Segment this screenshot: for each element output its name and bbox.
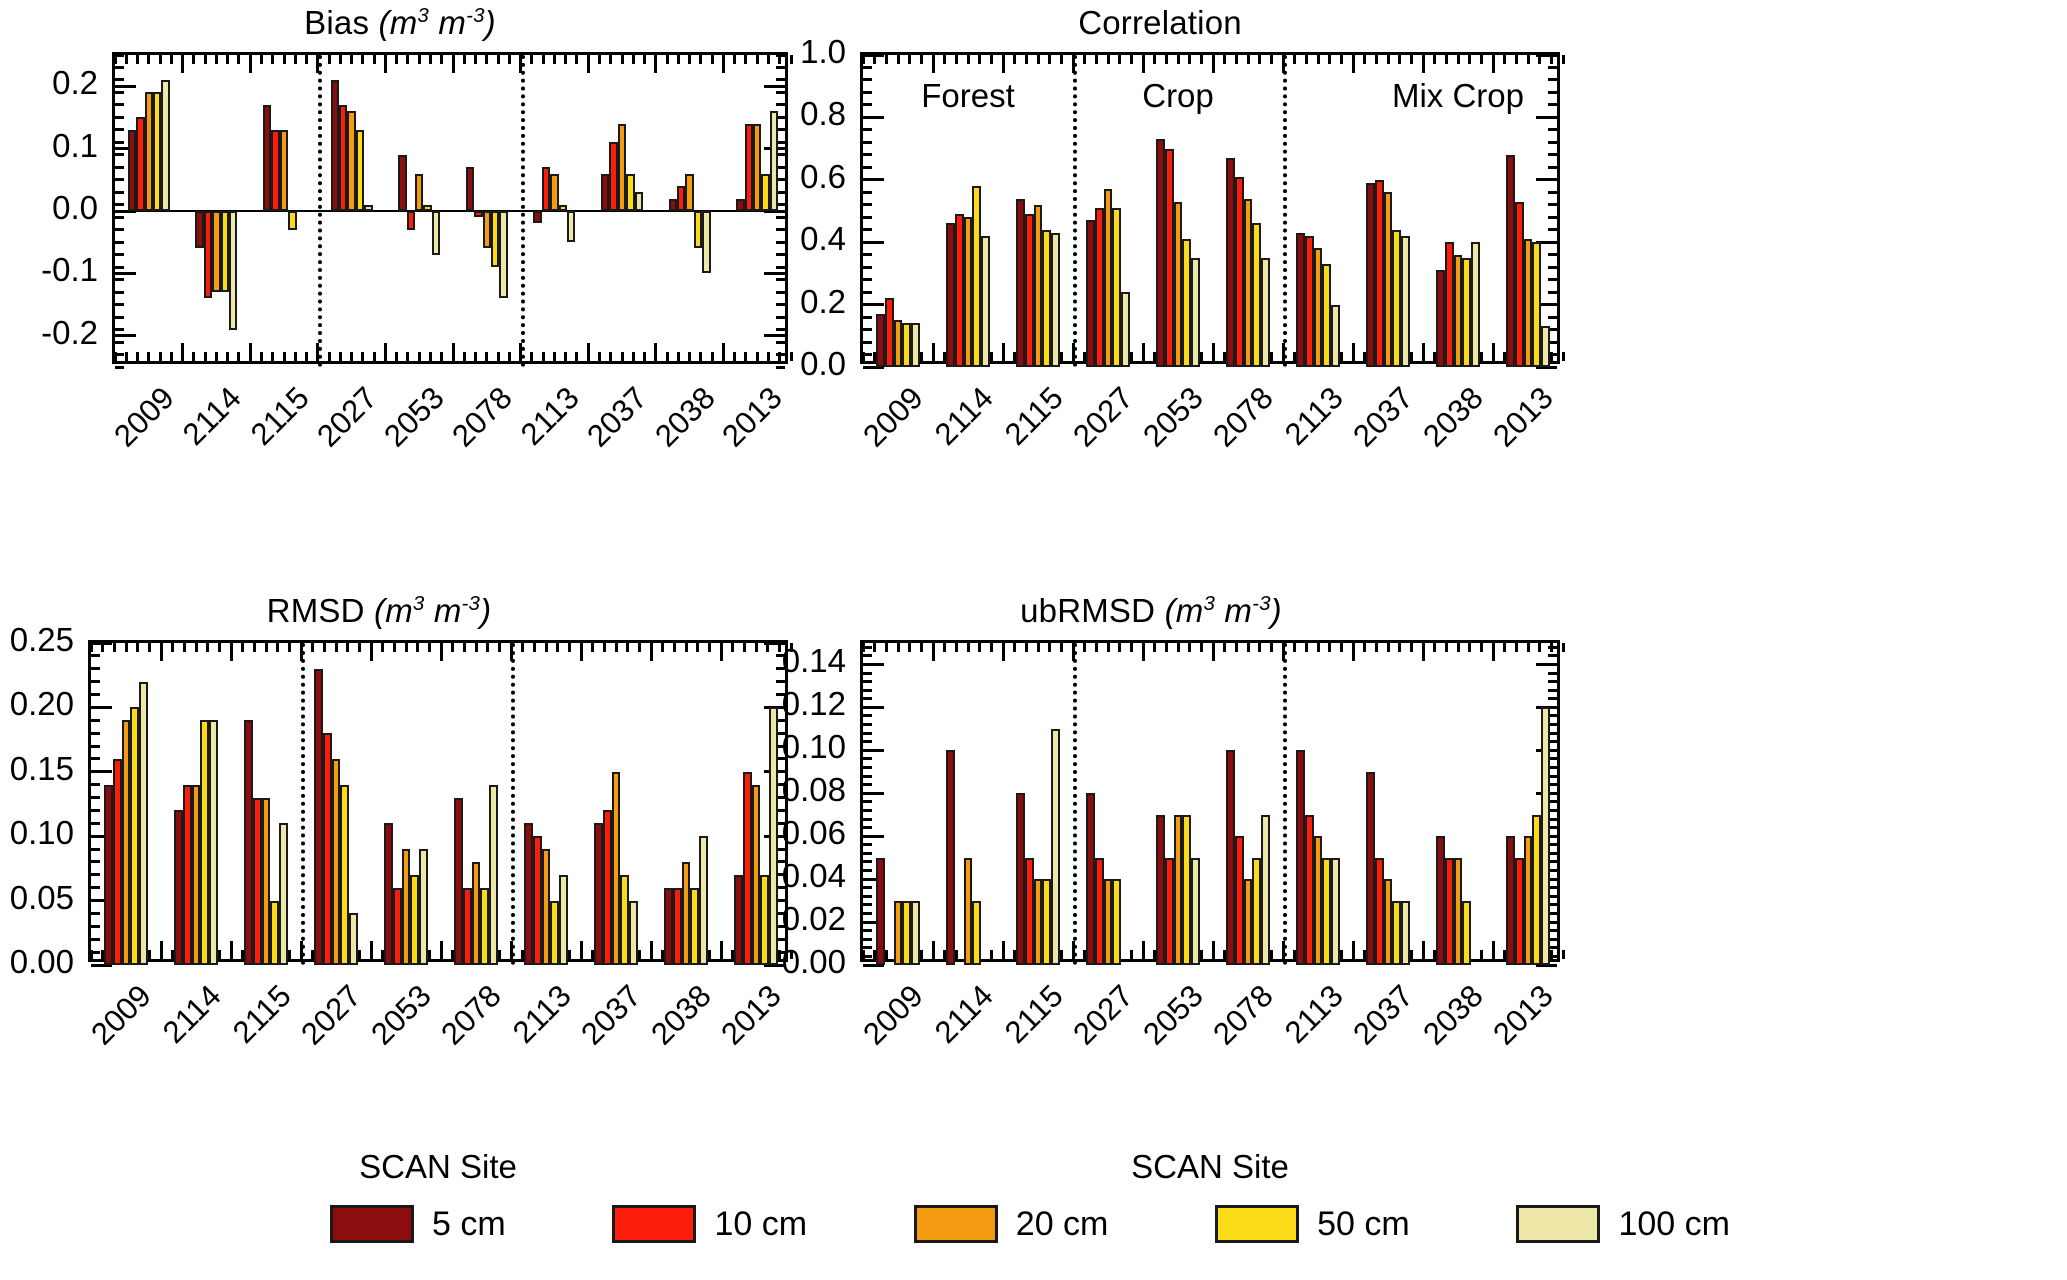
tick-minor-x [1410,950,1413,959]
tick-major-x [1002,643,1005,661]
tick-minor-x [1107,643,1110,652]
tick-minor-y [863,912,872,915]
tick-minor-x [1060,643,1063,652]
bar-ubrmsd-2053-10cm [1165,858,1174,965]
tick-minor-y [863,697,872,700]
bar-ubrmsd-2038-5cm [1436,836,1445,965]
tick-minor-x [1468,643,1471,652]
group-separator-2 [1283,643,1287,965]
tick-minor-x [1270,950,1273,959]
tick-minor-x [1328,643,1331,652]
tick-minor-y [863,689,872,692]
bar-ubrmsd-2037-10cm [1375,858,1384,965]
legend: 5 cm10 cm20 cm50 cm100 cm [330,1196,1730,1252]
tick-minor-x [955,950,958,959]
tick-major-x [932,941,935,959]
tick-major-x [1422,643,1425,661]
legend-swatch-0 [330,1205,414,1243]
y-tick-label: 0.00 [728,943,846,981]
chart-title-ubrmsd: ubRMSD (m3 m-3) [742,592,1560,630]
tick-minor-y [1548,680,1557,683]
tick-minor-x [990,950,993,959]
bar-ubrmsd-2013-10cm [1515,858,1524,965]
tick-minor-x [1340,950,1343,959]
bar-ubrmsd-2078-50cm [1252,858,1261,965]
tick-minor-x [1562,950,1565,959]
tick-minor-x [1293,643,1296,652]
tick-minor-y [863,869,872,872]
tick-minor-x [920,950,923,959]
bar-ubrmsd-2115-100cm [1051,729,1060,965]
tick-minor-x [1270,643,1273,652]
bar-ubrmsd-2009-100cm [911,901,920,965]
bar-ubrmsd-2027-10cm [1095,858,1104,965]
tick-minor-x [1375,643,1378,652]
tick-minor-x [1562,643,1565,652]
bar-ubrmsd-2078-20cm [1244,879,1253,965]
tick-minor-x [1258,643,1261,652]
tick-major-y [863,749,884,752]
tick-major-y [863,706,884,709]
tick-minor-x [1387,643,1390,652]
tick-minor-x [1503,643,1506,652]
bar-ubrmsd-2037-20cm [1384,879,1393,965]
bar-ubrmsd-2115-10cm [1025,858,1034,965]
tick-minor-x [1130,643,1133,652]
tick-minor-x [897,643,900,652]
tick-major-x [1352,643,1355,661]
tick-minor-y [863,860,872,863]
legend-label-3: 50 cm [1317,1205,1410,1244]
tick-minor-y [863,818,872,821]
y-tick-label: 0.12 [728,685,846,723]
bar-ubrmsd-2114-5cm [946,750,955,965]
bar-ubrmsd-2027-20cm [1104,879,1113,965]
bar-ubrmsd-2114-50cm [972,901,981,965]
bar-ubrmsd-2053-20cm [1174,815,1183,965]
tick-minor-x [1363,643,1366,652]
tick-minor-y [1548,697,1557,700]
tick-minor-x [1153,643,1156,652]
tick-major-x [932,643,935,661]
tick-minor-y [1548,646,1557,649]
y-tick-label: 0.08 [728,771,846,809]
tick-minor-y [1548,654,1557,657]
bar-ubrmsd-2113-100cm [1331,858,1340,965]
legend-swatch-4 [1516,1205,1600,1243]
bar-ubrmsd-2013-100cm [1541,707,1550,965]
y-tick-label: 0.14 [728,642,846,680]
tick-minor-x [990,643,993,652]
tick-minor-x [967,643,970,652]
legend-label-1: 10 cm [714,1205,807,1244]
bar-ubrmsd-2038-10cm [1445,858,1454,965]
tick-major-x [1352,941,1355,959]
tick-minor-y [863,903,872,906]
tick-minor-y [863,886,872,889]
bar-ubrmsd-2113-5cm [1296,750,1305,965]
tick-major-x [1212,643,1215,661]
plot-frame-ubrmsd [860,640,1560,962]
tick-major-x [1142,941,1145,959]
legend-item-20cm: 20 cm [914,1205,1109,1244]
tick-minor-x [1177,643,1180,652]
tick-minor-x [885,950,888,959]
tick-minor-y [863,723,872,726]
bar-ubrmsd-2037-100cm [1401,901,1410,965]
tick-minor-x [955,643,958,652]
bar-ubrmsd-2115-20cm [1034,879,1043,965]
tick-minor-x [908,643,911,652]
tick-minor-y [863,895,872,898]
tick-minor-x [1445,643,1448,652]
tick-minor-x [1025,643,1028,652]
tick-minor-x [1013,643,1016,652]
bar-ubrmsd-2078-5cm [1226,750,1235,965]
tick-major-y [863,835,884,838]
bar-ubrmsd-2013-5cm [1506,836,1515,965]
legend-swatch-1 [612,1205,696,1243]
bar-ubrmsd-2009-5cm [876,858,885,965]
bar-ubrmsd-2037-50cm [1392,901,1401,965]
legend-label-2: 20 cm [1016,1205,1109,1244]
group-separator-1 [1073,643,1077,965]
bar-ubrmsd-2038-20cm [1454,858,1463,965]
y-tick-label: 0.10 [728,728,846,766]
tick-minor-y [863,766,872,769]
legend-item-10cm: 10 cm [612,1205,807,1244]
legend-swatch-3 [1215,1205,1299,1243]
tick-minor-x [1048,643,1051,652]
tick-minor-y [863,929,872,932]
legend-label-0: 5 cm [432,1205,506,1244]
tick-minor-x [978,643,981,652]
tick-minor-x [920,643,923,652]
tick-minor-y [863,680,872,683]
tick-major-x [1492,941,1495,959]
legend-swatch-2 [914,1205,998,1243]
tick-minor-y [863,775,872,778]
tick-minor-y [863,740,872,743]
legend-item-100cm: 100 cm [1516,1205,1730,1244]
unit-post: ) [1271,592,1282,629]
y-tick-label: 0.04 [728,857,846,895]
legend-item-5cm: 5 cm [330,1205,506,1244]
tick-minor-y [863,732,872,735]
tick-major-y [863,792,884,795]
tick-minor-x [885,643,888,652]
tick-minor-x [1480,950,1483,959]
tick-minor-x [1200,643,1203,652]
bar-ubrmsd-2027-5cm [1086,793,1095,965]
tick-minor-y [863,955,872,958]
tick-minor-y [863,826,872,829]
tick-minor-y [863,938,872,941]
chart-title-text-ubrmsd: ubRMSD [1020,592,1155,629]
tick-minor-x [1037,643,1040,652]
tick-minor-x [1515,643,1518,652]
bar-ubrmsd-2113-20cm [1314,836,1323,965]
chart-title-unit-ubrmsd: (m3 m-3) [1155,592,1282,629]
tick-minor-x [1305,643,1308,652]
bar-ubrmsd-2115-5cm [1016,793,1025,965]
tick-minor-x [1095,643,1098,652]
bar-ubrmsd-2009-20cm [894,901,903,965]
tick-minor-x [1433,643,1436,652]
tick-minor-x [1083,643,1086,652]
tick-minor-x [1165,643,1168,652]
bar-ubrmsd-2027-50cm [1112,879,1121,965]
bar-ubrmsd-2078-10cm [1235,836,1244,965]
tick-minor-x [1538,643,1541,652]
bar-ubrmsd-2113-10cm [1305,815,1314,965]
tick-minor-x [1340,643,1343,652]
tick-minor-x [1130,950,1133,959]
tick-minor-x [1247,643,1250,652]
figure-root: Bias (m3 m-3)-0.2-0.10.00.10.22009211421… [0,0,2067,1280]
tick-minor-x [1317,643,1320,652]
tick-minor-x [1235,643,1238,652]
tick-minor-y [863,672,872,675]
y-tick-label: 0.06 [728,814,846,852]
tick-minor-y [863,800,872,803]
tick-minor-y [863,783,872,786]
unit-pre: (m [1165,592,1204,629]
tick-major-x [1492,643,1495,661]
tick-minor-y [863,946,872,949]
bar-ubrmsd-2038-50cm [1462,901,1471,965]
tick-minor-y [863,654,872,657]
tick-minor-x [873,643,876,652]
bar-ubrmsd-2053-100cm [1191,858,1200,965]
legend-item-50cm: 50 cm [1215,1205,1410,1244]
tick-minor-x [1527,643,1530,652]
tick-major-x [1212,941,1215,959]
tick-major-x [1422,941,1425,959]
tick-minor-x [1118,643,1121,652]
tick-minor-x [1200,950,1203,959]
bar-ubrmsd-2115-50cm [1042,879,1051,965]
tick-major-y [1536,663,1557,666]
bar-ubrmsd-2114-20cm [964,858,973,965]
bar-ubrmsd-2078-100cm [1261,815,1270,965]
tick-minor-x [1060,950,1063,959]
tick-minor-x [1480,643,1483,652]
bar-ubrmsd-2013-50cm [1532,815,1541,965]
bar-ubrmsd-2013-20cm [1524,836,1533,965]
tick-minor-y [1548,672,1557,675]
x-axis-title-ubrmsd: SCAN Site [860,1148,1560,1186]
tick-minor-y [863,843,872,846]
tick-major-x [1142,643,1145,661]
tick-minor-x [943,643,946,652]
chart-panel-ubrmsd: ubRMSD (m3 m-3)0.000.020.040.060.080.100… [0,0,2067,1280]
tick-minor-y [863,852,872,855]
tick-minor-x [1223,643,1226,652]
y-tick-label: 0.02 [728,900,846,938]
legend-label-4: 100 cm [1618,1205,1730,1244]
tick-minor-x [1457,643,1460,652]
bar-ubrmsd-2113-50cm [1322,858,1331,965]
tick-minor-x [1398,643,1401,652]
tick-major-x [1002,941,1005,959]
tick-minor-y [863,646,872,649]
unit-sup-1: 3 [1203,592,1215,615]
bar-ubrmsd-2037-5cm [1366,772,1375,965]
bar-ubrmsd-2053-50cm [1182,815,1191,965]
bar-ubrmsd-2053-5cm [1156,815,1165,965]
tick-minor-y [863,809,872,812]
tick-minor-y [863,757,872,760]
unit-sup-2: -3 [1252,592,1271,615]
tick-minor-x [1410,643,1413,652]
bar-ubrmsd-2009-50cm [902,901,911,965]
tick-minor-y [863,714,872,717]
unit-mid: m [1215,592,1252,629]
tick-minor-x [1188,643,1191,652]
tick-minor-y [1548,689,1557,692]
tick-major-y [863,663,884,666]
